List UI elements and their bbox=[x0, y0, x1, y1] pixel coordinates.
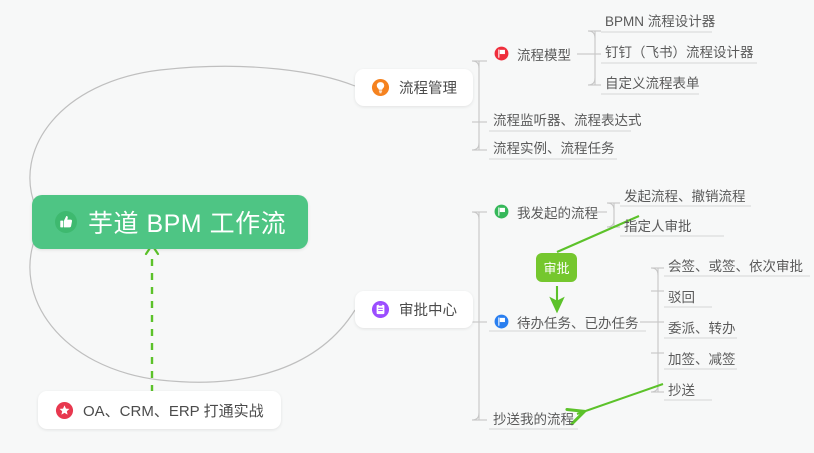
label-process-instance-task: 流程实例、流程任务 bbox=[493, 137, 615, 157]
leaf-countersign-or-sequential[interactable]: 会签、或签、依次审批 bbox=[664, 253, 807, 278]
leaf-delegate-transfer[interactable]: 委派、转办 bbox=[664, 315, 740, 340]
leaf-bpmn-designer[interactable]: BPMN 流程设计器 bbox=[601, 8, 719, 33]
flag-icon bbox=[494, 46, 509, 61]
floating-note-label: OA、CRM、ERP 打通实战 bbox=[83, 400, 264, 421]
leaf-label-start-cancel-process: 发起流程、撤销流程 bbox=[624, 185, 746, 205]
label-todo-done-task: 待办任务、已办任务 bbox=[517, 312, 639, 332]
leaf-dingtalk-feishu-designer[interactable]: 钉钉（飞书）流程设计器 bbox=[601, 39, 758, 64]
mindmap-canvas: 芋道 BPM 工作流 OA、CRM、ERP 打通实战 流程管理 bbox=[0, 0, 814, 453]
node-process-model[interactable]: 流程模型 bbox=[490, 42, 575, 67]
node-process-instance-task[interactable]: 流程实例、流程任务 bbox=[489, 135, 619, 160]
leaf-custom-process-form[interactable]: 自定义流程表单 bbox=[601, 70, 704, 95]
root-label: 芋道 BPM 工作流 bbox=[88, 204, 286, 240]
leaf-label-add-remove-sign: 加签、减签 bbox=[668, 348, 736, 368]
leaf-label-reject: 驳回 bbox=[668, 286, 695, 306]
branch-label-process-management: 流程管理 bbox=[399, 77, 457, 98]
leaf-assignee-approval[interactable]: 指定人审批 bbox=[620, 213, 696, 238]
leaf-label-custom-process-form: 自定义流程表单 bbox=[605, 72, 700, 92]
leaf-label-delegate-transfer: 委派、转办 bbox=[668, 317, 736, 337]
flag-icon bbox=[494, 204, 509, 219]
label-process-listener-expression: 流程监听器、流程表达式 bbox=[493, 109, 642, 129]
label-my-initiated-process: 我发起的流程 bbox=[517, 202, 598, 222]
branch-node-approval-center[interactable]: 审批中心 bbox=[355, 291, 473, 328]
node-process-listener-expression[interactable]: 流程监听器、流程表达式 bbox=[489, 107, 646, 132]
floating-note-node[interactable]: OA、CRM、ERP 打通实战 bbox=[38, 391, 281, 429]
leaf-label-countersign-or-sequential: 会签、或签、依次审批 bbox=[668, 255, 803, 275]
root-node[interactable]: 芋道 BPM 工作流 bbox=[32, 195, 308, 249]
node-todo-done-task[interactable]: 待办任务、已办任务 bbox=[490, 310, 643, 335]
leaf-add-remove-sign[interactable]: 加签、减签 bbox=[664, 346, 740, 371]
node-cc-to-me-process[interactable]: 抄送我的流程 bbox=[489, 406, 578, 431]
label-process-model: 流程模型 bbox=[517, 44, 571, 64]
branch-label-approval-center: 审批中心 bbox=[399, 299, 457, 320]
annotation-tag-approval[interactable]: 审批 bbox=[536, 253, 577, 282]
thumbs-up-icon bbox=[54, 210, 78, 234]
leaf-label-dingtalk-feishu-designer: 钉钉（飞书）流程设计器 bbox=[605, 41, 754, 61]
leaf-label-assignee-approval: 指定人审批 bbox=[624, 215, 692, 235]
label-cc-to-me-process: 抄送我的流程 bbox=[493, 408, 574, 428]
clipboard-icon bbox=[371, 300, 390, 319]
annotation-tag-label: 审批 bbox=[544, 258, 570, 277]
star-icon bbox=[55, 401, 74, 420]
leaf-cc[interactable]: 抄送 bbox=[664, 377, 699, 402]
node-my-initiated-process[interactable]: 我发起的流程 bbox=[490, 200, 602, 225]
leaf-label-cc: 抄送 bbox=[668, 379, 695, 399]
leaf-start-cancel-process[interactable]: 发起流程、撤销流程 bbox=[620, 183, 750, 208]
flag-icon bbox=[494, 314, 509, 329]
leaf-reject[interactable]: 驳回 bbox=[664, 284, 699, 309]
lightbulb-icon bbox=[371, 78, 390, 97]
branch-node-process-management[interactable]: 流程管理 bbox=[355, 69, 473, 106]
leaf-label-bpmn-designer: BPMN 流程设计器 bbox=[605, 10, 715, 30]
